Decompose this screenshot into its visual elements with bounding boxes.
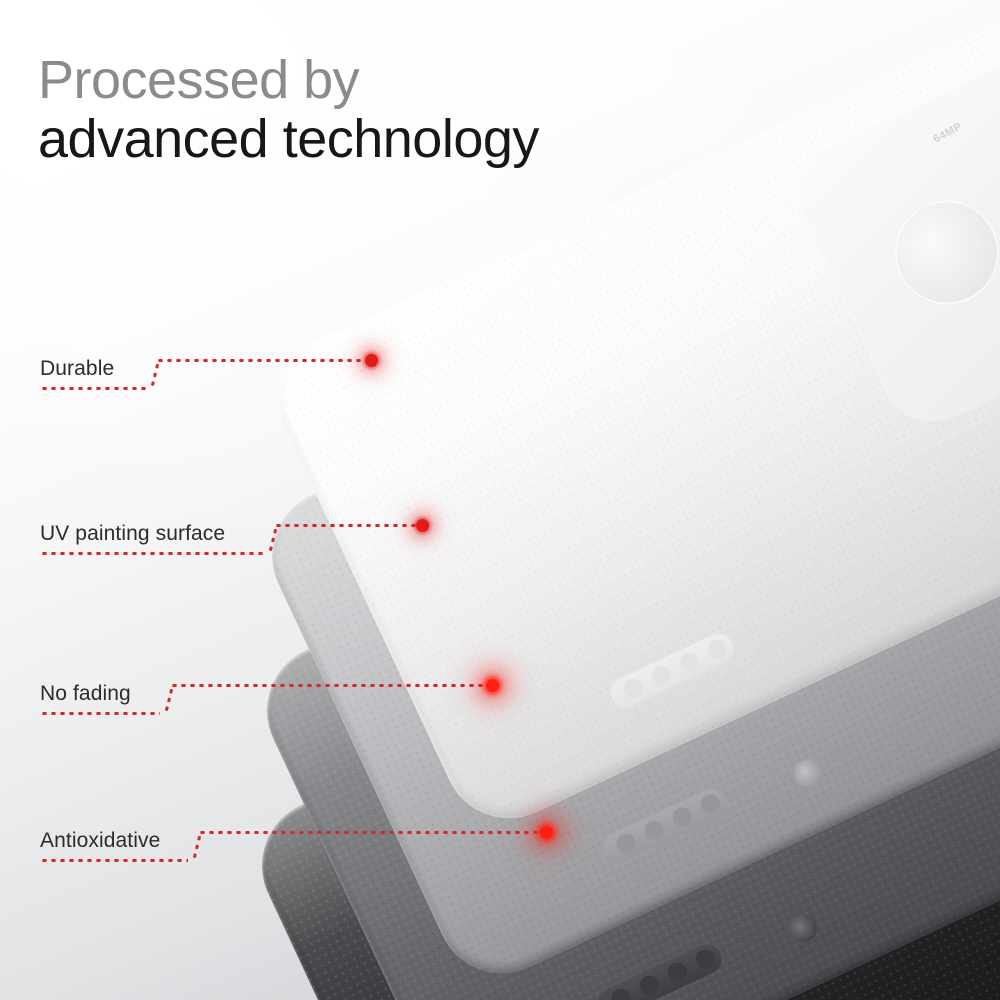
callout-underline	[40, 552, 264, 555]
callout-uv-painting-surface: UV painting surface	[40, 495, 450, 555]
callout-underline	[40, 712, 160, 715]
callout-label: No fading	[40, 682, 131, 706]
callout-durable: Durable	[40, 330, 390, 390]
callout-no-fading: No fading	[40, 655, 560, 715]
callout-label: Durable	[40, 357, 114, 381]
page-title: Processed by advanced technology	[38, 52, 539, 168]
callout-leader-line	[274, 524, 422, 527]
callout-riser	[192, 833, 202, 861]
callout-underline	[40, 387, 146, 390]
callout-marker	[486, 679, 499, 692]
callout-marker	[540, 826, 553, 839]
callout-underline	[40, 859, 188, 862]
callout-leader-line	[156, 359, 371, 362]
callout-antioxidative: Antioxidative	[40, 800, 600, 862]
callout-leader-line	[170, 684, 490, 687]
callout-label: Antioxidative	[40, 829, 160, 853]
product-feature-scene: 64MP	[0, 0, 1000, 1000]
callout-marker	[416, 519, 429, 532]
callout-riser	[164, 686, 174, 714]
callout-marker	[365, 354, 378, 367]
callout-leader-line	[198, 831, 544, 834]
callout-riser	[268, 526, 278, 554]
title-line-1: Processed by	[38, 52, 539, 109]
title-line-2: advanced technology	[38, 111, 539, 168]
callout-label: UV painting surface	[40, 522, 225, 546]
callout-riser	[150, 361, 160, 389]
